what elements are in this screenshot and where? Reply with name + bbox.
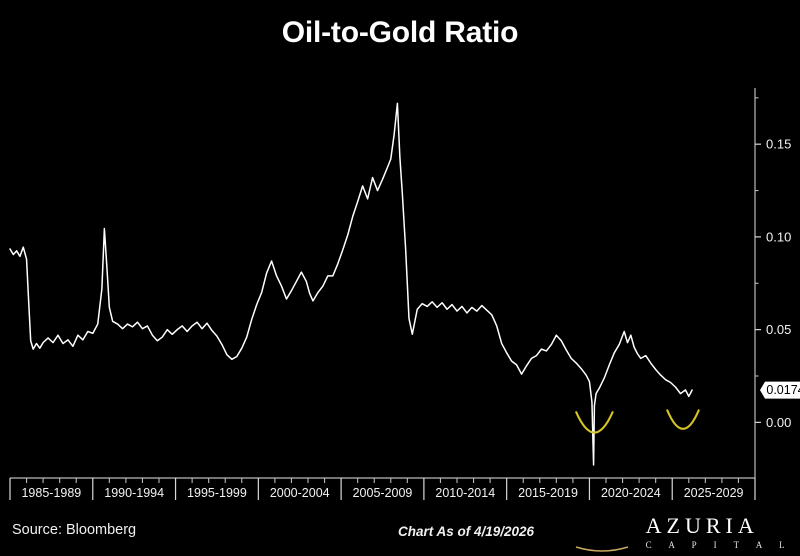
x-tick-label: 1990-1994 — [104, 486, 164, 500]
x-tick-label: 2005-2009 — [353, 486, 413, 500]
x-tick-label: 2025-2029 — [684, 486, 744, 500]
bottoming-arc-2025 — [667, 410, 698, 429]
x-tick-label: 2015-2019 — [518, 486, 578, 500]
y-tick-label: 0.00 — [766, 415, 791, 430]
y-tick-label: 0.15 — [766, 137, 791, 152]
brand-wordmark: AZURIA C A P I T A L — [646, 515, 792, 550]
series-line — [10, 103, 692, 465]
data-series-group — [10, 103, 692, 465]
chart-plot-area: 0.000.050.100.15 1985-19891990-19941995-… — [0, 0, 800, 500]
x-axis: 1985-19891990-19941995-19992000-20042005… — [10, 478, 755, 500]
brand-logo: AZURIA C A P I T A L — [566, 510, 792, 554]
y-tick-label: 0.10 — [766, 229, 791, 244]
y-axis: 0.000.050.100.15 — [755, 88, 791, 478]
source-note: Source: Bloomberg — [12, 522, 136, 538]
y-tick-label: 0.05 — [766, 322, 791, 337]
x-tick-label: 2000-2004 — [270, 486, 330, 500]
footer: Source: Bloomberg Chart As of 4/19/2026 … — [0, 508, 800, 556]
current-value-callout: 0.0174 — [760, 382, 800, 399]
x-tick-label: 1985-1989 — [21, 486, 81, 500]
x-tick-label: 2020-2024 — [601, 486, 661, 500]
brand-name: AZURIA — [646, 515, 792, 537]
fan-sunburst-logo-icon — [566, 512, 638, 552]
chart-container: Oil-to-Gold Ratio 0.000.050.100.15 1985-… — [0, 0, 800, 556]
current-value-label: 0.0174 — [766, 383, 800, 397]
x-tick-label: 1995-1999 — [187, 486, 247, 500]
chart-date-note: Chart As of 4/19/2026 — [398, 524, 534, 539]
brand-subtitle: C A P I T A L — [646, 541, 792, 550]
x-tick-label: 2010-2014 — [435, 486, 495, 500]
